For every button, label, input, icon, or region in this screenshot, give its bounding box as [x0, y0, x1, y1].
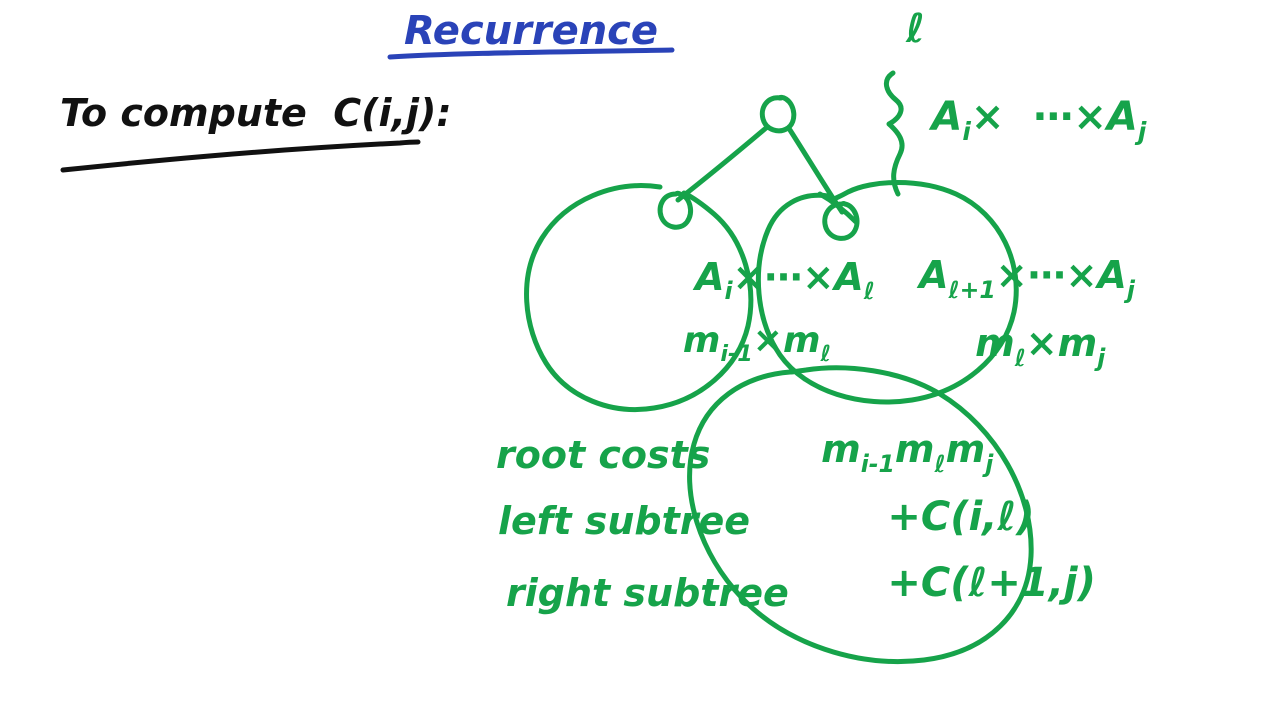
cost-left-arg2: ℓ	[996, 494, 1016, 540]
handwritten-diagram: Recurrence To compute C(i,j): Ai× ⋯×Aj ℓ…	[0, 0, 1280, 719]
prompt-underline	[63, 142, 418, 170]
cost-row-left-subtree: left subtree +C(i,ℓ)	[498, 494, 1132, 543]
cost-root-m2: m	[895, 427, 935, 471]
root-node-label: Ai× ⋯×Aj ℓ	[806, 6, 1244, 150]
svg-text:mi-1mℓmj: mi-1mℓmj	[702, 427, 1086, 481]
left-line1-a: A	[692, 255, 724, 299]
left-line2-m2: m	[783, 320, 821, 361]
right-line2-m1-subscript: ℓ	[1014, 344, 1026, 372]
svg-text:+C(i,ℓ): +C(i,ℓ)	[762, 494, 1132, 540]
left-line2-m2-subscript: ℓ	[819, 341, 831, 367]
root-ellipsis: ⋯	[1033, 94, 1073, 140]
ell-split-marker: ℓ	[905, 6, 925, 52]
right-line1-b: A	[1094, 253, 1126, 297]
left-node-circle	[660, 193, 690, 227]
right-line2-times: ×	[1026, 321, 1058, 365]
whiteboard-canvas: Recurrence To compute C(i,j): Ai× ⋯×Aj ℓ…	[0, 0, 1280, 719]
cost-root-m3: m	[946, 427, 986, 471]
cost-row-left-label: left subtree	[498, 499, 750, 543]
svg-text:⋯×Aj: ⋯×Aj	[908, 94, 1244, 150]
cost-root-m2-subscript: ℓ	[934, 450, 946, 478]
cost-root-m1-subscript: i-1	[861, 450, 895, 478]
cost-right-arg1: ℓ+1	[968, 560, 1049, 606]
cost-right-suffix: )	[1076, 560, 1096, 606]
prompt-text: To compute C(i,j):	[60, 91, 452, 135]
right-line1-mid: ×⋯×	[996, 253, 1098, 297]
cost-right-comma: ,	[1047, 560, 1064, 606]
left-line2-m1-subscript: i-1	[720, 341, 752, 367]
right-line1-a: A	[916, 253, 948, 297]
left-line2-times: ×	[753, 320, 783, 361]
root-times-2: ×	[1073, 94, 1107, 140]
right-line2-m2: m	[1058, 321, 1098, 365]
root-right-factor: A	[1104, 94, 1138, 140]
cost-left-comma: ,	[980, 494, 997, 540]
right-line1-a-subscript: ℓ+1	[948, 276, 996, 304]
cost-row-root: root costs mi-1mℓmj	[496, 427, 1086, 481]
left-line2-m1: m	[683, 320, 721, 361]
cost-left-prefix: +C(	[887, 494, 969, 540]
root-node-circle	[762, 97, 794, 130]
page-title: Recurrence	[404, 8, 658, 54]
svg-text:+C(ℓ+1,j): +C(ℓ+1,j)	[762, 560, 1193, 606]
root-to-left-edge	[678, 128, 766, 200]
cost-left-suffix: )	[1014, 494, 1034, 540]
cost-row-right-subtree: right subtree +C(ℓ+1,j)	[506, 560, 1193, 615]
cost-root-m1: m	[821, 427, 861, 471]
cost-row-right-label: right subtree	[506, 571, 789, 615]
cost-right-prefix: +C(	[887, 560, 969, 606]
right-line2-m1: m	[975, 321, 1015, 365]
cost-row-root-label: root costs	[496, 433, 710, 477]
